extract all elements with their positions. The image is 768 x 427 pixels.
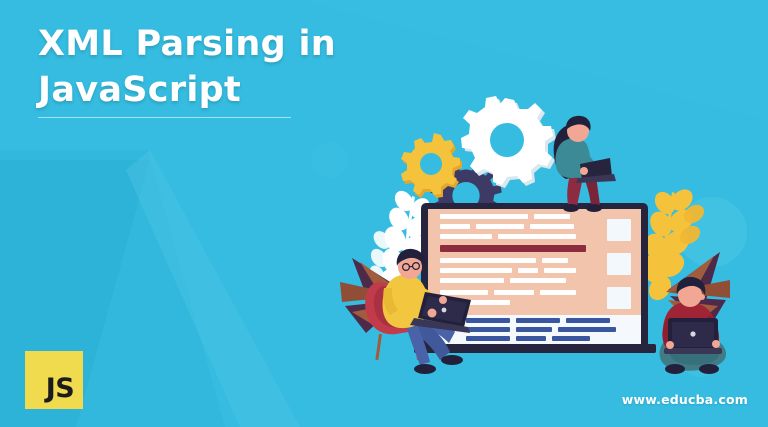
screen-code-lines: [440, 214, 576, 305]
javascript-logo: JS: [25, 351, 83, 409]
javascript-logo-label: JS: [46, 375, 75, 402]
site-watermark: www.educba.com: [622, 392, 748, 407]
title-underline: [38, 117, 291, 118]
title-block: XML Parsing in JavaScript: [38, 22, 398, 118]
screen-highlight-line: [440, 245, 586, 252]
character-woman-on-monitor: [554, 116, 616, 212]
screen-sidebar-boxes: [607, 219, 631, 309]
banner: XML Parsing in JavaScript JS www.educba.…: [0, 0, 768, 427]
page-title: XML Parsing in JavaScript: [38, 22, 398, 113]
